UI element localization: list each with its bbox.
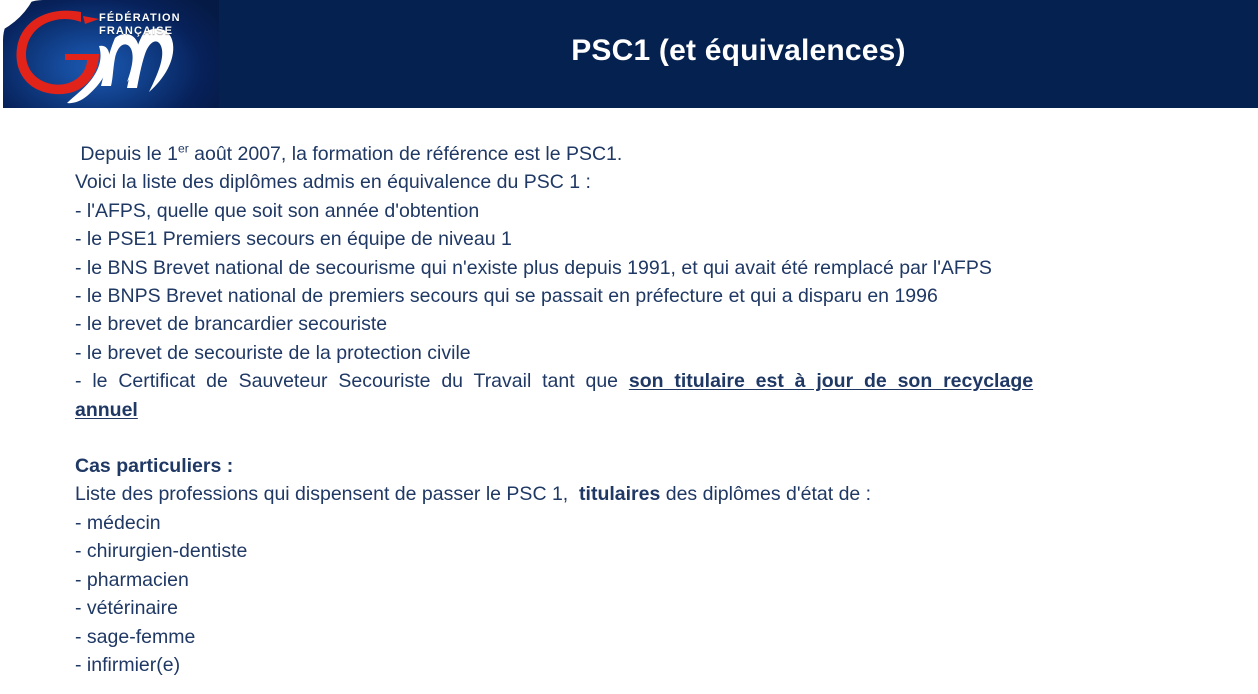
intro-lead-in: Depuis le 1 [75,143,178,165]
sst-plain-text: - le Certificat de Sauveteur Secouriste … [75,370,629,392]
list-item: - médecin [75,509,1185,537]
slide-header: FÉDÉRATIONFRANÇAISE PSC1 (et équivalence… [3,0,1258,108]
special-cases-heading: Cas particuliers : [75,452,1185,480]
list-item: - le brevet de secouriste de la protecti… [75,339,1185,367]
ffgym-logo: FÉDÉRATIONFRANÇAISE [3,0,219,108]
intro-line-2: Voici la liste des diplômes admis en équ… [75,168,1185,196]
sst-emphasis-text: son titulaire est à jour de son recyclag… [629,370,1033,392]
page-title: PSC1 (et équivalences) [219,0,1258,108]
section-spacer [75,424,1185,452]
slide-body: Depuis le 1er août 2007, la formation de… [75,140,1185,679]
logo-federation-line1: FÉDÉRATION [99,12,181,24]
list-item: - le PSE1 Premiers secours en équipe de … [75,225,1185,253]
list-item: - le brevet de brancardier secouriste [75,310,1185,338]
list-item: - le BNPS Brevet national de premiers se… [75,282,1185,310]
list-item-sst: - le Certificat de Sauveteur Secouriste … [75,367,1185,424]
logo-federation-text: FÉDÉRATIONFRANÇAISE [99,12,181,38]
intro-lead-out: août 2007, la formation de référence est… [189,143,623,165]
ordinal-suffix: er [178,142,189,156]
logo-accent-shape [83,16,99,24]
list-item: - sage-femme [75,623,1185,651]
special-cases-intro: Liste des professions qui dispensent de … [75,480,1185,508]
slide: FÉDÉRATIONFRANÇAISE PSC1 (et équivalence… [0,0,1258,694]
special-cases-intro-emphasis: titulaires [579,483,660,505]
intro-line-1: Depuis le 1er août 2007, la formation de… [75,140,1185,168]
sst-emphasis-wrap: annuel [75,399,138,421]
list-item: - le BNS Brevet national de secourisme q… [75,254,1185,282]
list-item: - infirmier(e) [75,651,1185,679]
list-item: - pharmacien [75,566,1185,594]
list-item: - vétérinaire [75,594,1185,622]
list-item: - l'AFPS, quelle que soit son année d'ob… [75,197,1185,225]
special-cases-intro-after: des diplômes d'état de : [660,483,871,505]
list-item: - chirurgien-dentiste [75,537,1185,565]
special-cases-intro-before: Liste des professions qui dispensent de … [75,483,579,505]
logo-federation-line2: FRANÇAISE [99,25,173,37]
